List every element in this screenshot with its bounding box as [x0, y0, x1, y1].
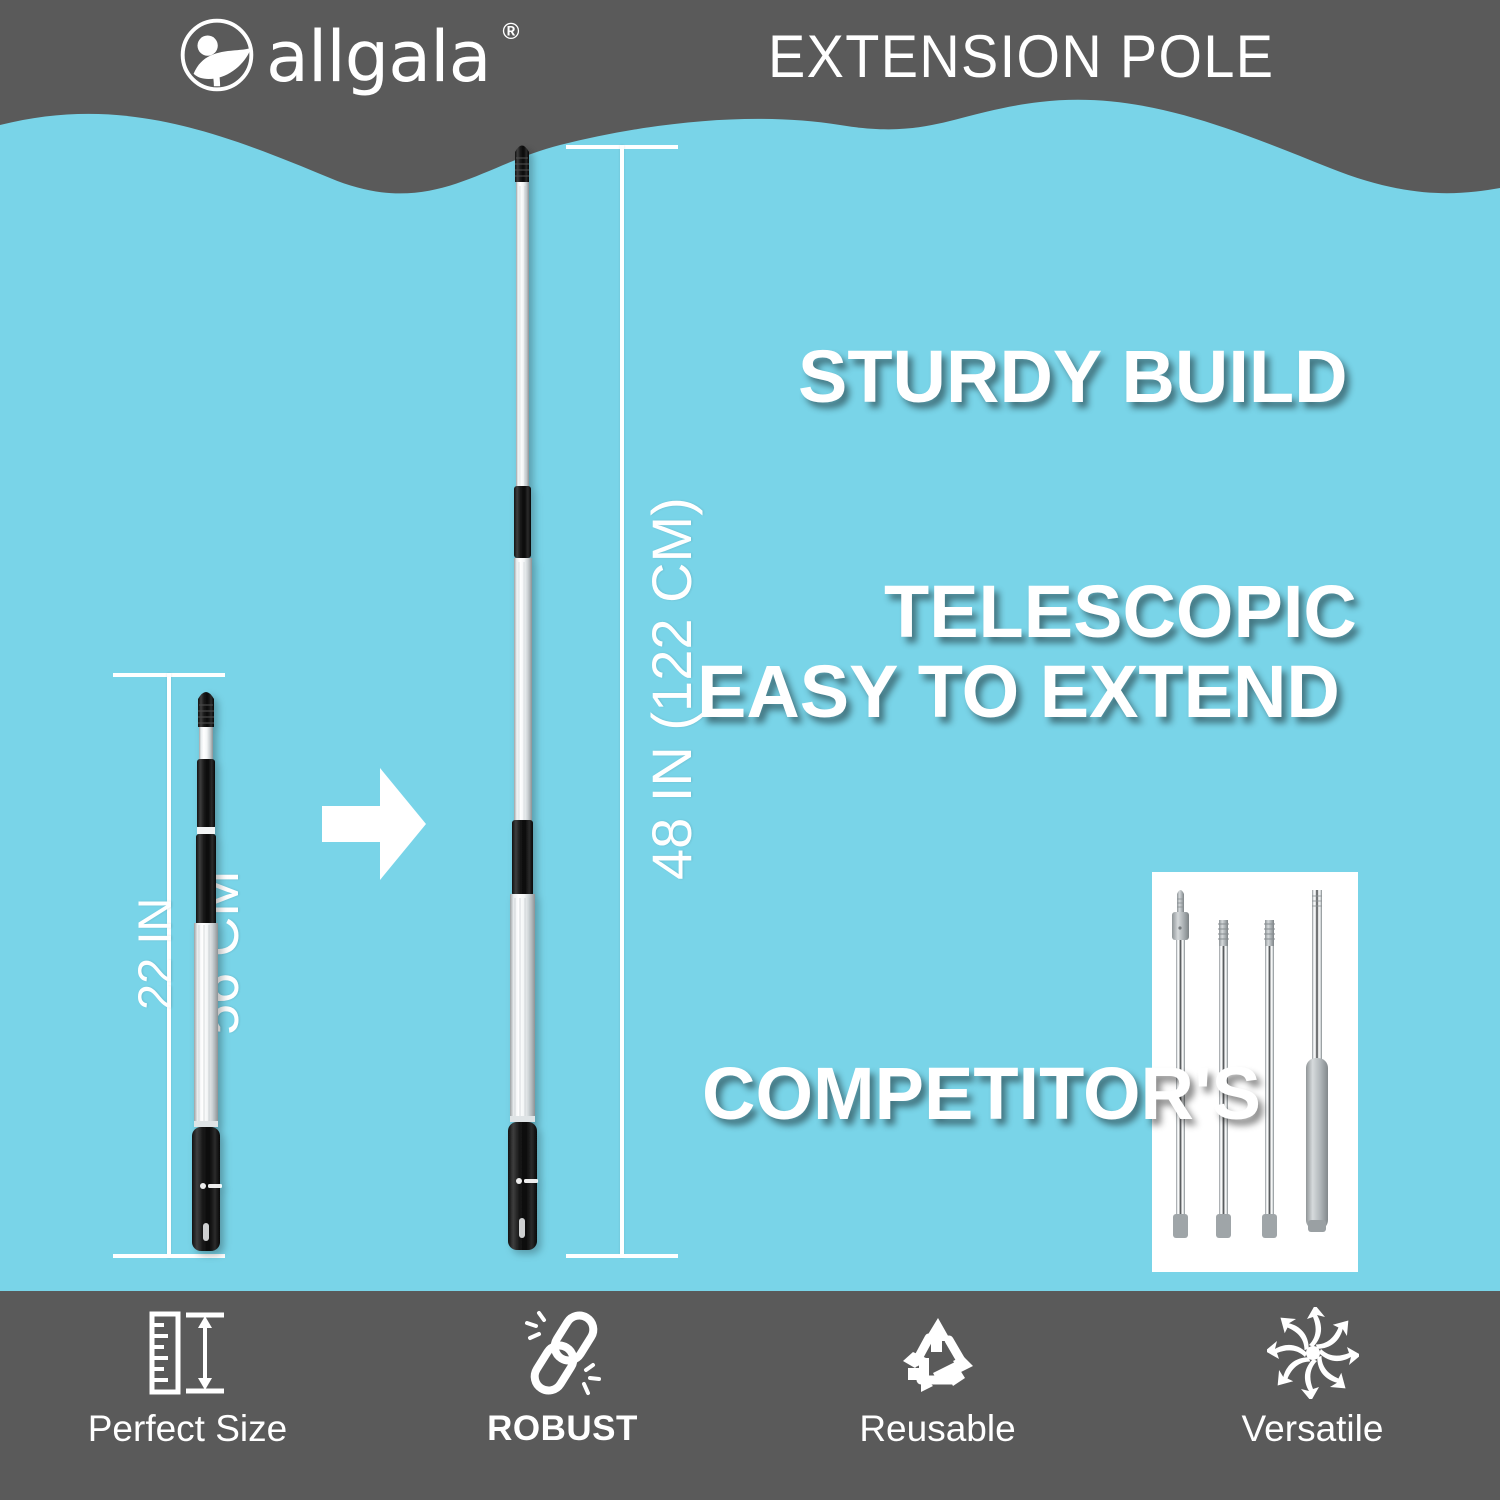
- chain-link-icon: [517, 1305, 609, 1401]
- brand-name: allgala: [266, 18, 490, 96]
- headline-telescopic: TELESCOPIC: [884, 570, 1357, 654]
- headline-sturdy-build: STURDY BUILD: [798, 335, 1348, 419]
- headline-easy-to-extend: EASY TO EXTEND: [697, 650, 1340, 734]
- recycle-icon: [892, 1305, 984, 1401]
- feature-reusable: Reusable: [750, 1291, 1125, 1451]
- footer-feature-bar: Perfect Size: [0, 1291, 1500, 1500]
- feature-label-versatile: Versatile: [1242, 1407, 1384, 1451]
- headline-competitors: COMPETITOR'S: [702, 1052, 1261, 1136]
- ruler-measure-icon: [142, 1305, 234, 1401]
- header-bar: allgala ® EXTENSION POLE: [0, 0, 1500, 120]
- allgala-circle-person-logo-icon: [178, 16, 256, 94]
- feature-label-robust: ROBUST: [487, 1407, 638, 1451]
- feature-label-perfect-size: Perfect Size: [88, 1407, 287, 1451]
- feature-robust: ROBUST: [375, 1291, 750, 1451]
- extended-dimension-guide: 48 IN (122 CM): [0, 0, 760, 1291]
- collapsed-pole-image: [178, 675, 248, 1255]
- extended-pole-image: [492, 140, 562, 1258]
- extended-dimension-line-vertical: [620, 145, 624, 1258]
- feature-perfect-size: Perfect Size: [0, 1291, 375, 1451]
- infographic-canvas: allgala ® EXTENSION POLE 22 IN 56 CM 48 …: [0, 0, 1500, 1500]
- feature-versatile: Versatile: [1125, 1291, 1500, 1451]
- multi-direction-arrows-icon: [1267, 1305, 1359, 1401]
- brand-logo: allgala ®: [178, 16, 517, 94]
- trademark-symbol: ®: [502, 18, 519, 45]
- page-title: EXTENSION POLE: [768, 24, 1274, 90]
- extended-dimension-cap-bottom: [566, 1254, 678, 1258]
- right-arrow-icon: [318, 760, 430, 888]
- extended-dimension-label: 48 IN (122 CM): [639, 497, 704, 880]
- feature-label-reusable: Reusable: [859, 1407, 1015, 1451]
